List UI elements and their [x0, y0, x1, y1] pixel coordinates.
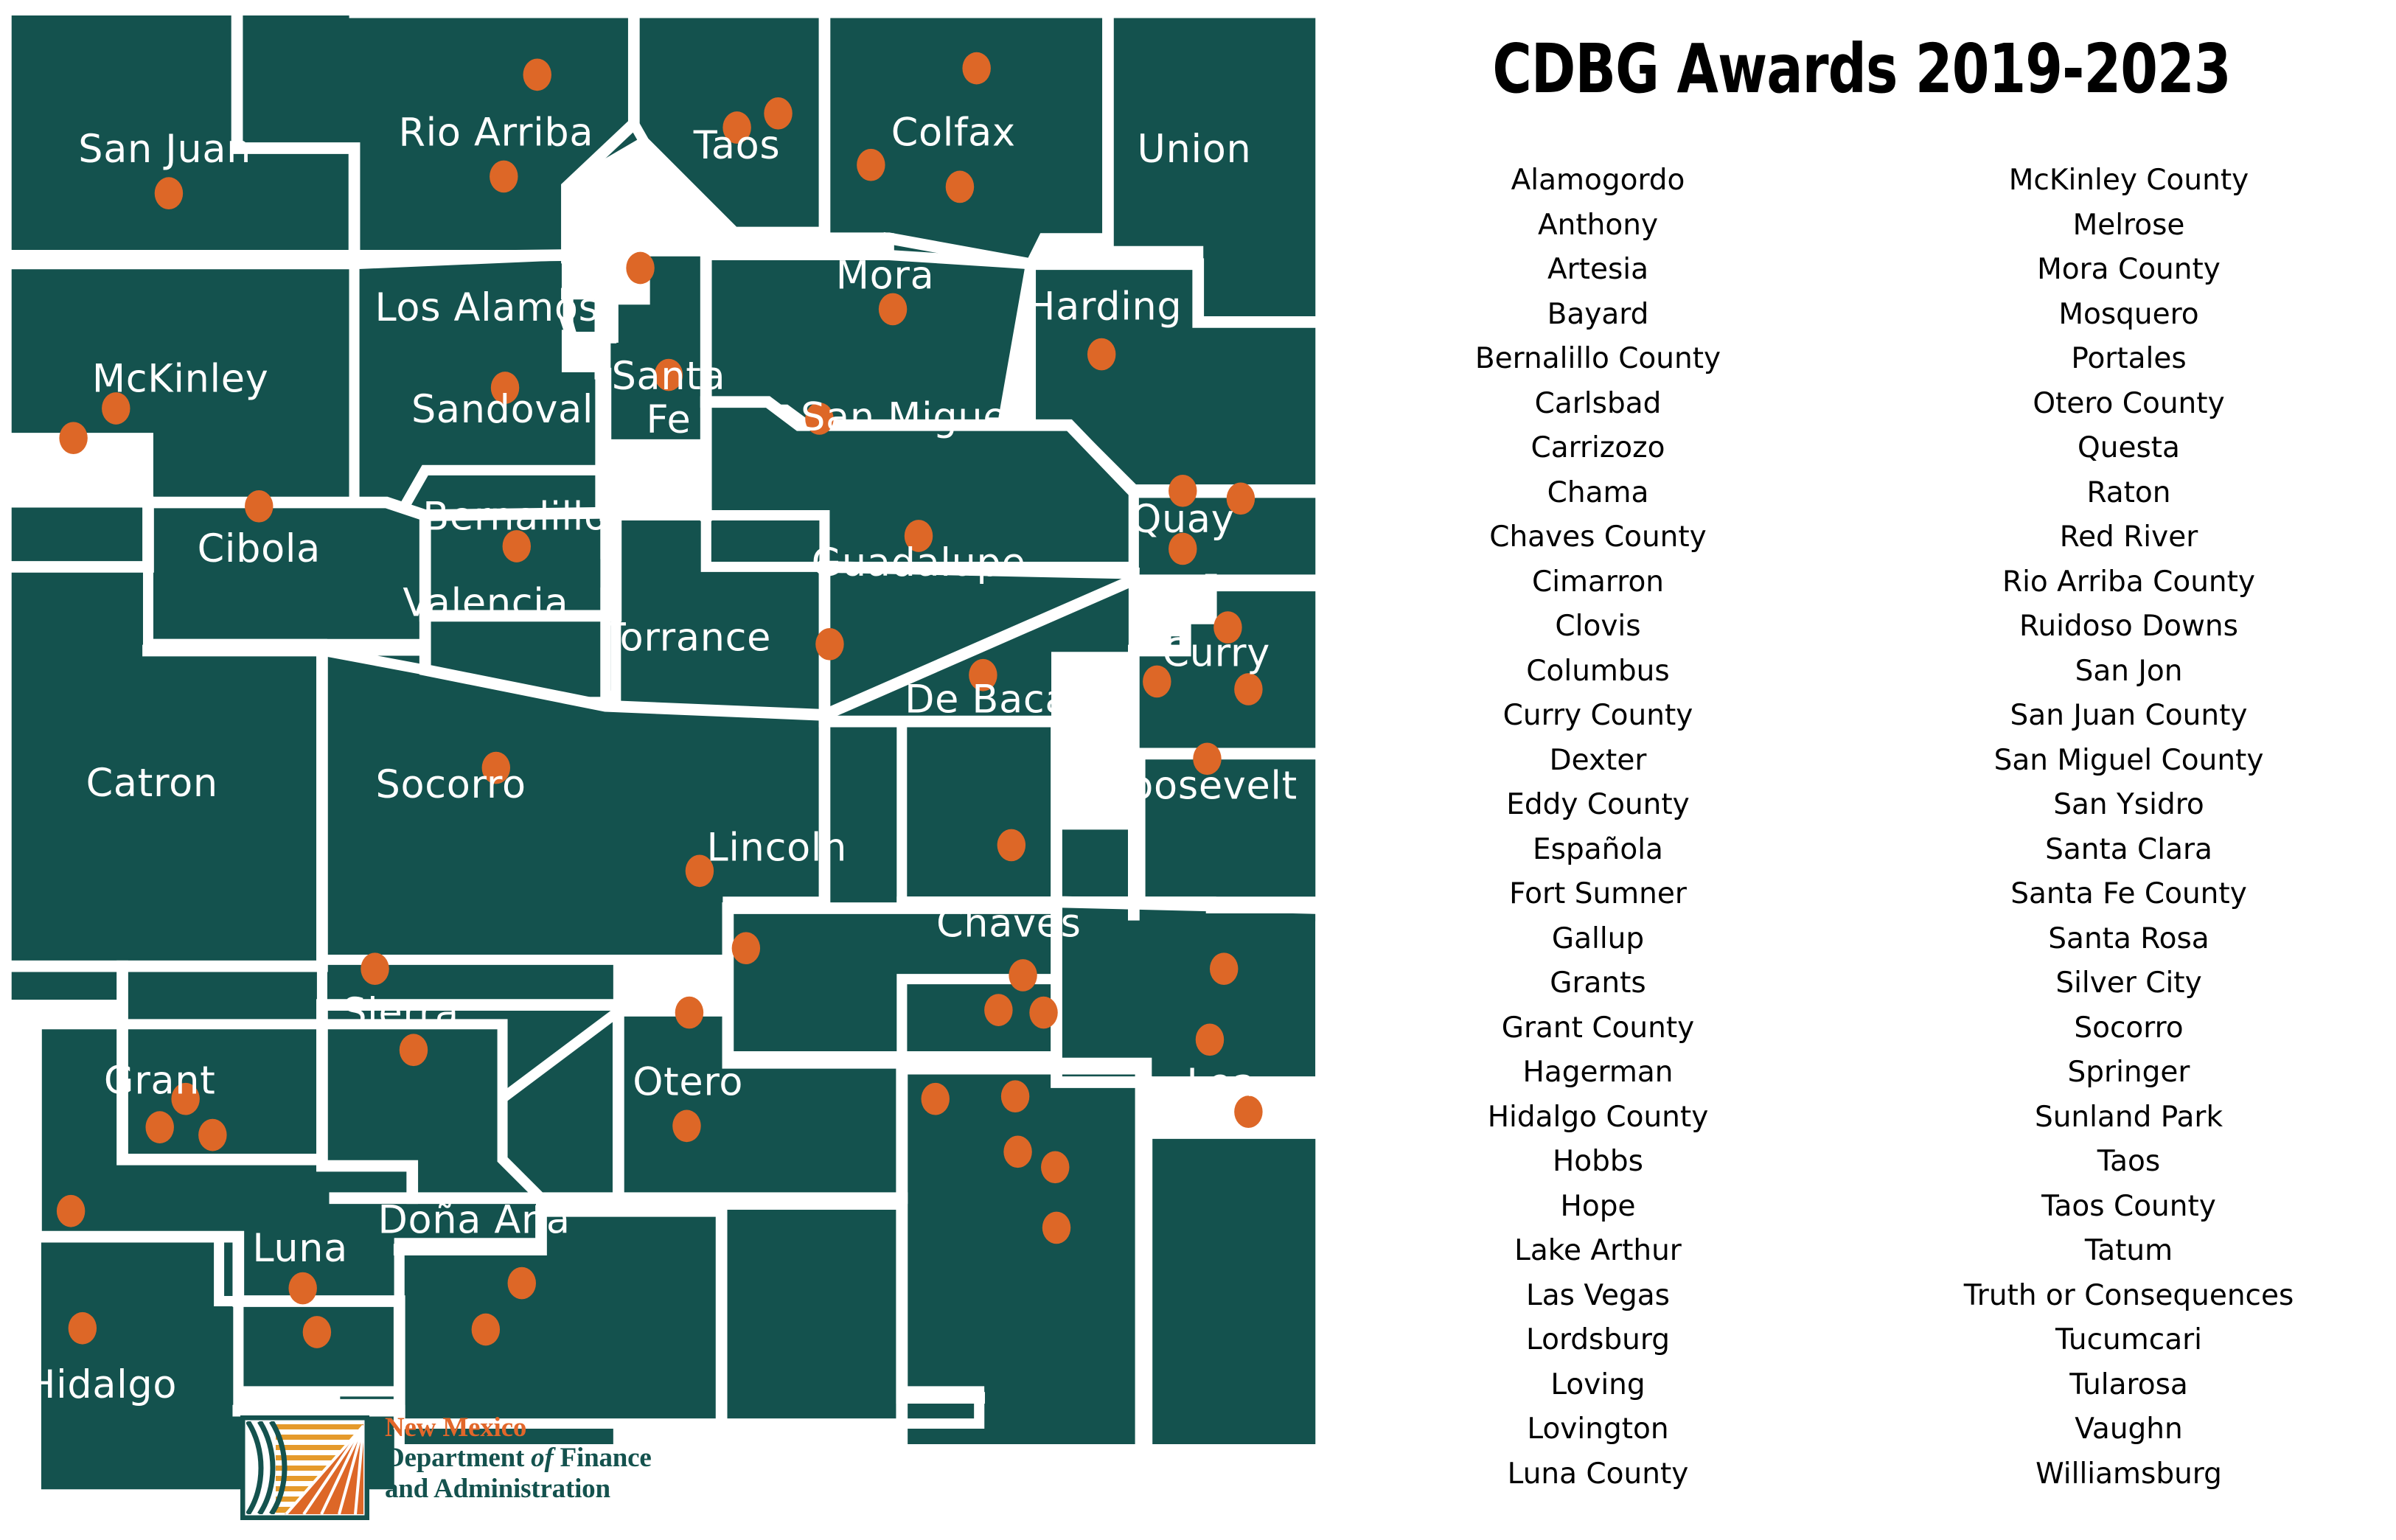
award-dot [400, 1034, 428, 1066]
award-dot [59, 422, 87, 454]
county-label-sandoval: Sandoval [411, 387, 593, 432]
award-dot [815, 628, 843, 661]
award-list-item: Grants [1334, 961, 1862, 1006]
award-dot [288, 1272, 316, 1305]
county-label-los-alamos: Los Alamos [375, 285, 599, 330]
nmdfa-logo-mark [240, 1415, 369, 1520]
award-list-item: Mora County [1862, 248, 2396, 293]
award-list-item: Artesia [1334, 248, 1862, 293]
logo-line-new-mexico: New Mexico [385, 1412, 680, 1443]
award-list-item: Taos [1862, 1140, 2396, 1185]
award-list-item: Grant County [1334, 1006, 1862, 1051]
county-label-santa-fe: Fe [647, 397, 692, 442]
award-list-item: Rio Arriba County [1862, 560, 2396, 605]
award-list-item: Luna County [1334, 1452, 1862, 1497]
award-list-item: Lake Arthur [1334, 1229, 1862, 1274]
award-list-item: Taos County [1862, 1185, 2396, 1230]
county-label-mora: Mora [836, 253, 935, 298]
county-label-guadalupe: Guadalupe [812, 540, 1026, 585]
county-label-doña-ana: Doña Ana [378, 1197, 571, 1242]
award-list-item: Hidalgo County [1334, 1095, 1862, 1140]
award-dot [1001, 1080, 1029, 1112]
award-list-item: Clovis [1334, 604, 1862, 649]
award-list-item: Melrose [1862, 203, 2396, 248]
award-list-item: Santa Fe County [1862, 872, 2396, 917]
award-list-item: Anthony [1334, 203, 1862, 248]
award-list-item: San Ysidro [1862, 783, 2396, 828]
award-dot [490, 161, 518, 193]
award-list-item: Columbus [1334, 649, 1862, 694]
award-dot [523, 59, 551, 91]
county-label-hidalgo: Hidalgo [27, 1362, 177, 1407]
awards-list-panel: CDBG Awards 2019-2023 AlamogordoAnthonyA… [1327, 0, 2396, 1540]
award-list-item: Sunland Park [1862, 1095, 2396, 1140]
award-list-item: Chaves County [1334, 515, 1862, 560]
logo-finance-word: Finance [554, 1443, 652, 1473]
county-label-socorro: Socorro [376, 762, 526, 807]
county-label-chaves: Chaves [936, 902, 1082, 947]
award-list-item: Hagerman [1334, 1051, 1862, 1095]
new-mexico-county-map: San JuanRio ArribaTaosColfaxUnionMcKinle… [0, 0, 1327, 1540]
award-list-item: Williamsburg [1862, 1452, 2396, 1497]
award-dot [145, 1111, 173, 1143]
award-dot [984, 994, 1012, 1026]
award-list-item: Santa Clara [1862, 828, 2396, 873]
award-dot [1196, 1023, 1224, 1056]
award-list-item: Silver City [1862, 961, 2396, 1006]
award-dot [245, 490, 273, 523]
award-list-item: Fort Sumner [1334, 872, 1862, 917]
county-label-luna: Luna [252, 1226, 348, 1271]
award-list-item: Bernalillo County [1334, 337, 1862, 382]
award-list-item: Gallup [1334, 917, 1862, 962]
award-list-item: Cimarron [1334, 560, 1862, 605]
county-label-catron: Catron [86, 761, 218, 806]
award-dot [1029, 997, 1057, 1029]
award-list-item: Truth or Consequences [1862, 1274, 2396, 1319]
award-list-item: Dexter [1334, 739, 1862, 784]
award-dot [1003, 1135, 1031, 1168]
award-dot [1087, 338, 1115, 371]
logo-line-and-administration: and Administration [385, 1474, 680, 1504]
award-dot [946, 171, 974, 203]
award-list-item: Santa Rosa [1862, 917, 2396, 962]
county-label-lea: Lea [1186, 1061, 1256, 1106]
county-label-sierra: Sierra [342, 990, 459, 1035]
county-label-otero: Otero [633, 1059, 743, 1104]
award-dot [672, 1110, 700, 1143]
cdbg-awards-map-page: San JuanRio ArribaTaosColfaxUnionMcKinle… [0, 0, 2396, 1540]
award-list-item: Ruidoso Downs [1862, 604, 2396, 649]
award-list-item: Lovington [1334, 1407, 1862, 1452]
award-dot [922, 1083, 950, 1115]
award-dot [997, 829, 1025, 862]
logo-line-department-of-finance: Department of Finance [385, 1443, 680, 1473]
award-list-item: San Miguel County [1862, 739, 2396, 784]
county-label-harding: Harding [1026, 284, 1182, 329]
award-dot [472, 1314, 500, 1346]
award-list-item: Tularosa [1862, 1363, 2396, 1408]
award-dot [962, 52, 990, 85]
award-dot [732, 932, 760, 964]
award-dot [1210, 952, 1238, 985]
county-label-union: Union [1138, 127, 1252, 172]
county-label-roosevelt: Roosevelt [1104, 764, 1298, 809]
award-list-item: Bayard [1334, 293, 1862, 338]
nmdfa-logo-text: New Mexico Department of Finance and Adm… [385, 1412, 680, 1504]
county-label-curry: Curry [1162, 631, 1270, 676]
award-list-item: Portales [1862, 337, 2396, 382]
award-list-item: San Juan County [1862, 694, 2396, 739]
award-list-item: Questa [1862, 426, 2396, 471]
county-label-taos: Taos [693, 123, 781, 168]
award-dot [303, 1316, 331, 1348]
county-label-torrance: Torrance [602, 616, 771, 661]
award-list-item: Hope [1334, 1185, 1862, 1230]
awards-columns: AlamogordoAnthonyArtesiaBayardBernalillo… [1327, 158, 2396, 1497]
county-label-san-miguel: San Miguel [801, 395, 1018, 440]
award-list-item: Tucumcari [1862, 1318, 2396, 1363]
county-label-rio-arriba: Rio Arriba [398, 110, 593, 155]
award-list-item: Red River [1862, 515, 2396, 560]
award-dot [626, 252, 654, 285]
county-label-lincoln: Lincoln [707, 825, 848, 870]
county-shape-chaves-b [1056, 902, 1320, 1082]
award-list-item: San Jon [1862, 649, 2396, 694]
award-dot [857, 149, 885, 181]
award-list-item: Vaughn [1862, 1407, 2396, 1452]
county-label-cibola: Cibola [198, 526, 321, 571]
logo-of-word: of [531, 1443, 553, 1473]
award-dot [69, 1312, 97, 1345]
award-dot [361, 952, 389, 985]
award-list-item: Socorro [1862, 1006, 2396, 1051]
page-title: CDBG Awards 2019-2023 [1427, 29, 2296, 108]
award-list-item: Eddy County [1334, 783, 1862, 828]
county-label-valencia: Valencia [403, 580, 568, 625]
county-label-de-baca: De Baca [905, 677, 1069, 722]
new-mexico-map-panel: San JuanRio ArribaTaosColfaxUnionMcKinle… [0, 0, 1327, 1540]
award-list-item: Tatum [1862, 1229, 2396, 1274]
award-dot [155, 177, 183, 209]
award-list-item: Carlsbad [1334, 382, 1862, 427]
county-label-mckinley: McKinley [92, 356, 269, 401]
award-list-item: Raton [1862, 471, 2396, 516]
award-dot [1009, 959, 1037, 992]
award-list-item: Chama [1334, 471, 1862, 516]
award-dot [1042, 1212, 1070, 1244]
county-shapes [7, 10, 1321, 1494]
award-dot [198, 1119, 226, 1151]
county-label-san-juan: San Juan [78, 127, 251, 172]
award-list-item: Alamogordo [1334, 158, 1862, 203]
award-list-item: Las Vegas [1334, 1274, 1862, 1319]
award-dot [675, 997, 703, 1029]
award-dot [1041, 1151, 1069, 1183]
award-list-item: Española [1334, 828, 1862, 873]
award-list-item: Loving [1334, 1363, 1862, 1408]
awards-column-2: McKinley CountyMelroseMora CountyMosquer… [1862, 158, 2396, 1497]
county-label-grant: Grant [104, 1059, 216, 1104]
county-label-bernalillo: Bernalillo [422, 494, 607, 539]
logo-dept-word: Department [385, 1443, 531, 1473]
county-label-colfax: Colfax [891, 110, 1016, 155]
award-list-item: McKinley County [1862, 158, 2396, 203]
award-list-item: Otero County [1862, 382, 2396, 427]
award-list-item: Lordsburg [1334, 1318, 1862, 1363]
award-dot [57, 1195, 85, 1227]
award-list-item: Carrizozo [1334, 426, 1862, 471]
award-dot [508, 1267, 536, 1300]
awards-column-1: AlamogordoAnthonyArtesiaBayardBernalillo… [1327, 158, 1862, 1497]
award-list-item: Curry County [1334, 694, 1862, 739]
county-label-quay: Quay [1131, 497, 1234, 542]
award-list-item: Springer [1862, 1051, 2396, 1095]
award-list-item: Hobbs [1334, 1140, 1862, 1185]
nmdfa-logo: New Mexico Department of Finance and Adm… [240, 1415, 683, 1526]
award-list-item: Mosquero [1862, 293, 2396, 338]
award-dot [1234, 673, 1262, 705]
county-label-santa-fe: Santa [612, 354, 726, 399]
